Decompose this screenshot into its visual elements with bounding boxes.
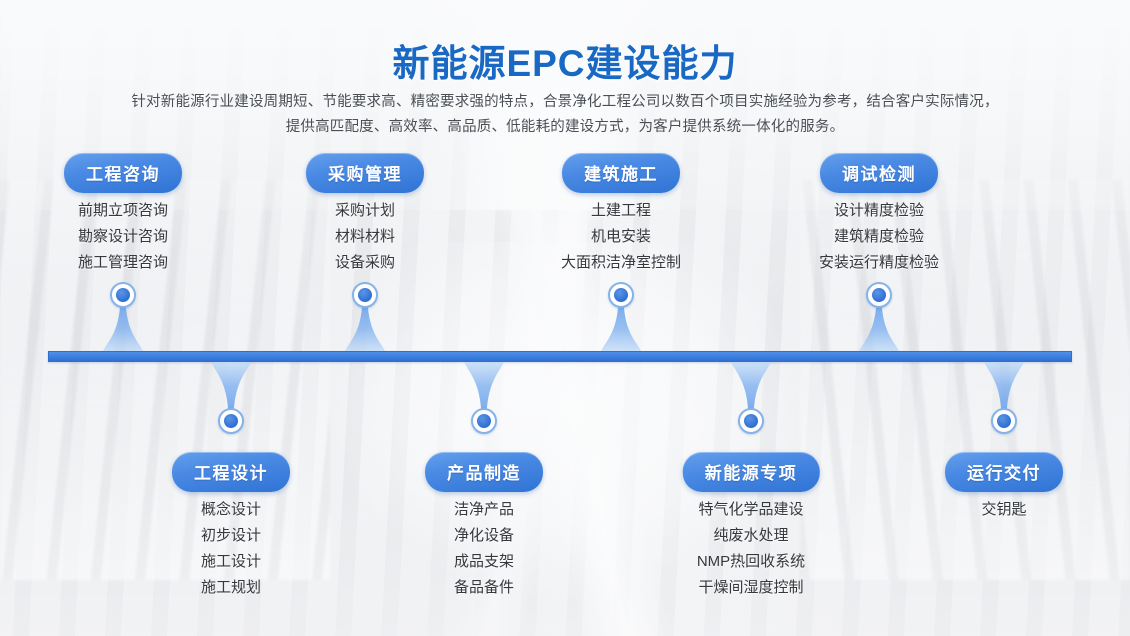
stage-item: 特气化学品建设	[697, 497, 805, 523]
infographic-page: 新能源EPC建设能力 针对新能源行业建设周期短、节能要求高、精密要求强的特点，合…	[0, 0, 1130, 636]
stage-pill-commissioning-inspection[interactable]: 调试检测	[820, 153, 938, 193]
stage-item: 勘察设计咨询	[78, 224, 168, 250]
stage-item-list-product-manufacturing: 洁净产品净化设备成品支架备品备件	[454, 497, 514, 601]
stage-item-list-new-energy-special: 特气化学品建设纯废水处理NMP热回收系统干燥间湿度控制	[697, 497, 805, 601]
stage-item: 建筑精度检验	[819, 224, 939, 250]
stage-item-list-procurement-management: 采购计划材料材料设备采购	[335, 198, 395, 276]
stage-item-list-building-construction: 土建工程机电安装大面积洁净室控制	[561, 198, 681, 276]
stage-pill-building-construction[interactable]: 建筑施工	[562, 153, 680, 193]
stage-item: 纯废水处理	[697, 523, 805, 549]
timeline-marker-dot[interactable]	[738, 408, 764, 434]
timeline-connector	[856, 301, 902, 351]
stage-item: 设备采购	[335, 250, 395, 276]
stage-item: 设计精度检验	[819, 198, 939, 224]
timeline-marker-dot[interactable]	[866, 282, 892, 308]
timeline-marker-dot[interactable]	[608, 282, 634, 308]
stage-item: 施工管理咨询	[78, 250, 168, 276]
timeline-marker-dot[interactable]	[352, 282, 378, 308]
stage-item: 初步设计	[201, 523, 261, 549]
stage-item: 施工设计	[201, 549, 261, 575]
timeline-marker-dot[interactable]	[218, 408, 244, 434]
stage-item-list-engineering-design: 概念设计初步设计施工设计施工规划	[201, 497, 261, 601]
stage-item: 洁净产品	[454, 497, 514, 523]
timeline-bar	[48, 351, 1072, 362]
timeline-connector	[100, 301, 146, 351]
stage-item: 材料材料	[335, 224, 395, 250]
stage-pill-new-energy-special[interactable]: 新能源专项	[683, 452, 820, 492]
stage-item: 备品备件	[454, 575, 514, 601]
stage-pill-product-manufacturing[interactable]: 产品制造	[425, 452, 543, 492]
stage-pill-procurement-management[interactable]: 采购管理	[306, 153, 424, 193]
stage-pill-engineering-design[interactable]: 工程设计	[172, 452, 290, 492]
stage-item: 机电安装	[561, 224, 681, 250]
stage-item: 交钥匙	[981, 497, 1026, 523]
stage-item: 安装运行精度检验	[819, 250, 939, 276]
stage-item: 净化设备	[454, 523, 514, 549]
stage-item-list-operation-delivery: 交钥匙	[981, 497, 1026, 523]
stage-item: 采购计划	[335, 198, 395, 224]
timeline-marker-dot[interactable]	[991, 408, 1017, 434]
stage-item: 大面积洁净室控制	[561, 250, 681, 276]
timeline-marker-dot[interactable]	[110, 282, 136, 308]
timeline-connector	[598, 301, 644, 351]
subtitle-line-1: 针对新能源行业建设周期短、节能要求高、精密要求强的特点，合景净化工程公司以数百个…	[85, 90, 1045, 115]
subtitle-line-2: 提供高匹配度、高效率、高品质、低能耗的建设方式，为客户提供系统一体化的服务。	[85, 115, 1045, 140]
stage-item: 干燥间湿度控制	[697, 575, 805, 601]
stage-pill-operation-delivery[interactable]: 运行交付	[945, 452, 1063, 492]
stage-item: 土建工程	[561, 198, 681, 224]
page-subtitle: 针对新能源行业建设周期短、节能要求高、精密要求强的特点，合景净化工程公司以数百个…	[85, 90, 1045, 140]
stage-item: 前期立项咨询	[78, 198, 168, 224]
timeline-connector	[342, 301, 388, 351]
stage-item: 成品支架	[454, 549, 514, 575]
stage-item: 施工规划	[201, 575, 261, 601]
timeline-marker-dot[interactable]	[471, 408, 497, 434]
stage-item-list-engineering-consulting: 前期立项咨询勘察设计咨询施工管理咨询	[78, 198, 168, 276]
stage-item: NMP热回收系统	[697, 549, 805, 575]
page-title: 新能源EPC建设能力	[0, 33, 1130, 87]
stage-item-list-commissioning-inspection: 设计精度检验建筑精度检验安装运行精度检验	[819, 198, 939, 276]
stage-item: 概念设计	[201, 497, 261, 523]
stage-pill-engineering-consulting[interactable]: 工程咨询	[64, 153, 182, 193]
